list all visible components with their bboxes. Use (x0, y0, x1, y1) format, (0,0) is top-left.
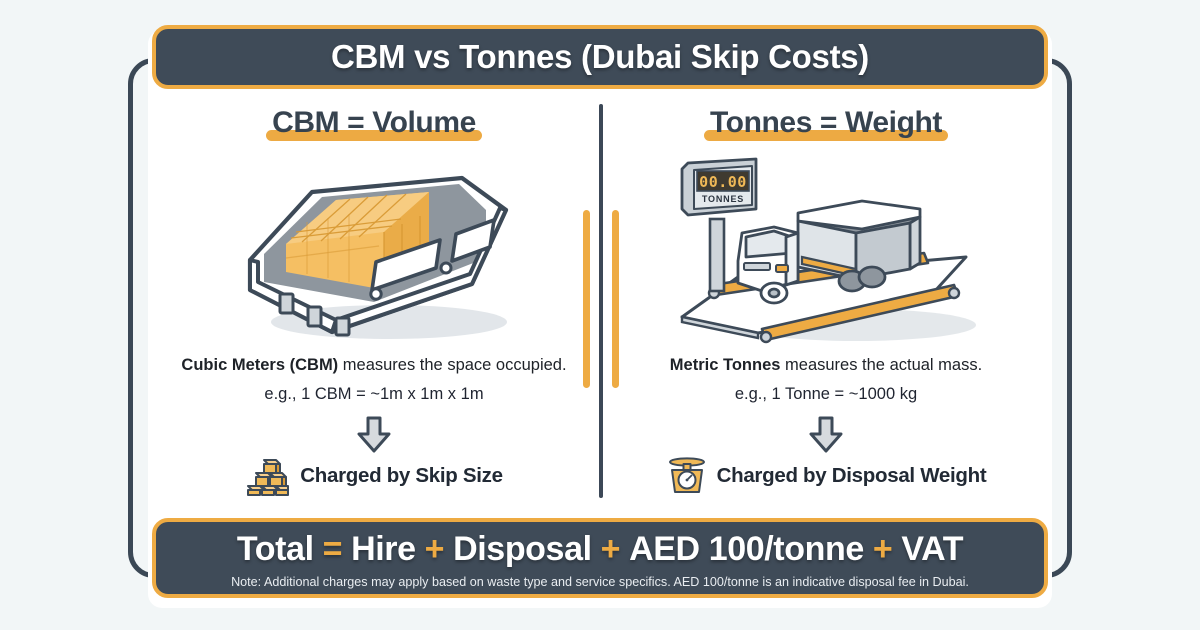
title-bar: CBM vs Tonnes (Dubai Skip Costs) (152, 25, 1048, 89)
weighbridge-display-value: 00.00 (699, 173, 747, 191)
column-tonnes-chip-label: Charged by Disposal Weight (717, 464, 987, 488)
column-cbm-heading: CBM = Volume (148, 106, 600, 140)
column-tonnes-arrow (600, 416, 1052, 454)
column-tonnes-heading: Tonnes = Weight (600, 106, 1052, 140)
formula-part-6: AED 100/tonne (629, 530, 864, 569)
skip-bin-illustration (148, 154, 600, 354)
column-cbm: CBM = Volume (148, 98, 600, 510)
column-cbm-chip: Charged by Skip Size (148, 456, 600, 496)
column-cbm-arrow (148, 416, 600, 454)
column-cbm-body: Cubic Meters (CBM) measures the space oc… (148, 354, 600, 376)
column-tonnes-chip: Charged by Disposal Weight (600, 456, 1052, 496)
formula-part-7: + (873, 530, 892, 569)
infographic-root: CBM vs Tonnes (Dubai Skip Costs) CBM = V… (0, 0, 1200, 630)
skip-bin-icon (224, 162, 524, 347)
column-tonnes-body: Metric Tonnes measures the actual mass. (600, 354, 1052, 376)
comparison-columns: CBM = Volume (148, 98, 1052, 510)
column-tonnes-example: e.g., 1 Tonne = ~1000 kg (600, 385, 1052, 404)
page-title: CBM vs Tonnes (Dubai Skip Costs) (331, 38, 869, 76)
banner-note: Note: Additional charges may apply based… (231, 575, 969, 589)
heading-text-tonnes: Tonnes = Weight (710, 106, 942, 139)
weighbridge-illustration: 00.00 TONNES (600, 154, 1052, 354)
brick-stack-icon (245, 456, 291, 496)
formula-part-3: + (425, 530, 444, 569)
column-tonnes: Tonnes = Weight (600, 98, 1052, 510)
formula-part-8: VAT (901, 530, 963, 569)
weighbridge-truck-icon: 00.00 TONNES (666, 157, 986, 352)
column-cbm-example: e.g., 1 CBM = ~1m x 1m x 1m (148, 385, 600, 404)
column-cbm-body-rest: measures the space occupied. (338, 356, 566, 374)
formula-part-0: Total (237, 530, 314, 569)
column-tonnes-body-lead: Metric Tonnes (670, 356, 781, 374)
formula-part-5: + (601, 530, 620, 569)
total-formula: Total=Hire+Disposal+AED 100/tonne+VAT (237, 530, 963, 569)
total-formula-banner: Total=Hire+Disposal+AED 100/tonne+VAT No… (152, 518, 1048, 598)
down-arrow-icon (354, 416, 394, 454)
formula-part-1: = (323, 530, 342, 569)
kitchen-scale-icon (666, 456, 708, 496)
column-cbm-body-lead: Cubic Meters (CBM) (181, 356, 338, 374)
column-tonnes-body-rest: measures the actual mass. (780, 356, 982, 374)
formula-part-4: Disposal (453, 530, 592, 569)
heading-text-cbm: CBM = Volume (272, 106, 476, 139)
column-cbm-chip-label: Charged by Skip Size (300, 464, 502, 488)
weighbridge-display-unit: TONNES (702, 194, 744, 204)
formula-part-2: Hire (351, 530, 416, 569)
down-arrow-icon (806, 416, 846, 454)
